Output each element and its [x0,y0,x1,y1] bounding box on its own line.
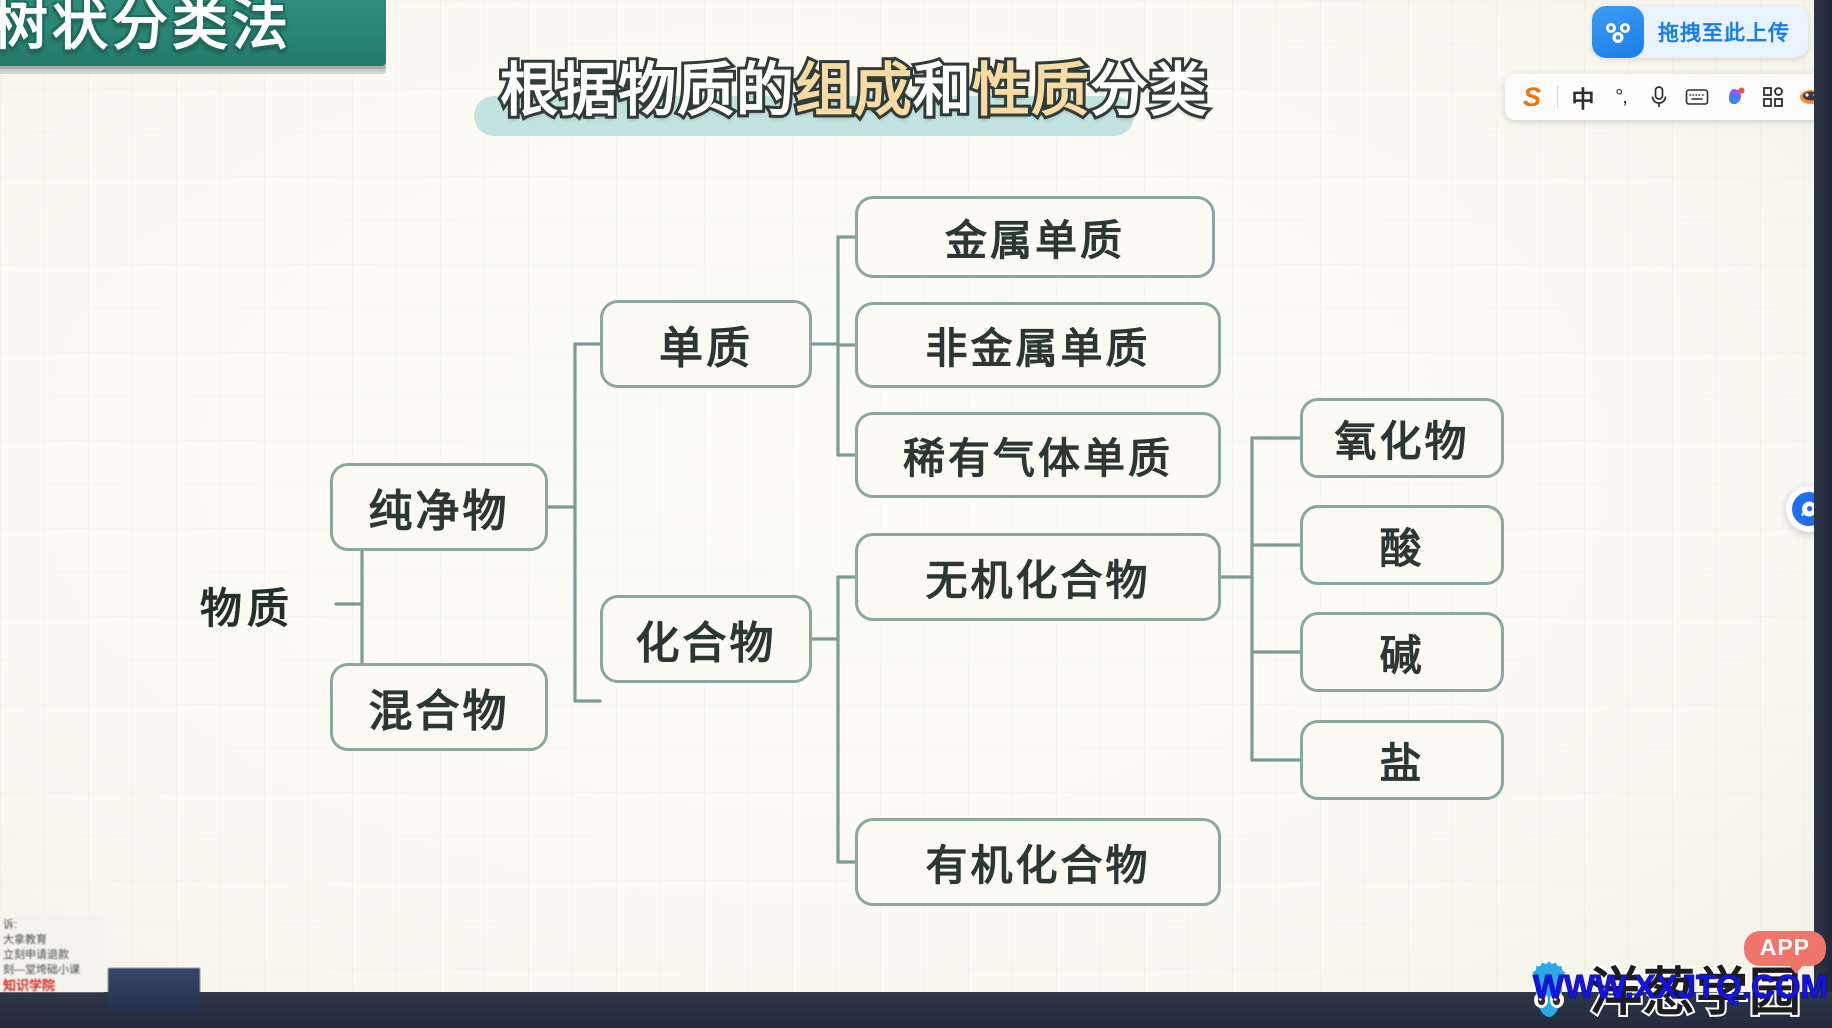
notice-line-1: 诉: [3,918,101,933]
screen-root: 物质 纯净物 混合物 单质 化合物 金属单质 非金属单质 稀有气体单质 无机化合… [0,0,1832,1028]
title-part-4-highlight: 性质 [972,58,1090,123]
app-badge: APP [1744,931,1826,966]
tree-node-pure[interactable]: 纯净物 [330,463,548,551]
background-notice-panel: 诉: 大拿教育 立刻申请退款 刻—堂垮础小课 知识学院 果课的知识学 [0,916,104,992]
page-title: 根据物质的组成和性质分类 [500,56,1140,126]
tree-node-base[interactable]: 碱 [1300,612,1504,692]
site-url-watermark: WWW.XXJTQ.COM [1533,968,1828,1006]
tree-node-element[interactable]: 单质 [600,300,812,388]
lesson-banner: 树状分类法 [0,0,386,66]
classification-tree-diagram: 物质 纯净物 混合物 单质 化合物 金属单质 非金属单质 稀有气体单质 无机化合… [0,0,1832,1028]
right-edge-strip [1814,0,1832,1028]
toolbox-grid-icon[interactable] [1756,78,1790,116]
notice-line-2: 大拿教育 [3,933,101,948]
sogou-ime-toolbar[interactable]: S 中 °, [1505,74,1832,120]
voice-input-icon[interactable] [1642,78,1676,116]
title-part-5: 分类 [1090,58,1208,123]
title-part-1: 根据物质的 [500,58,795,123]
tree-node-compound[interactable]: 化合物 [600,595,812,683]
tree-node-oxide[interactable]: 氧化物 [1300,398,1504,478]
background-video-thumbnail [108,968,200,1012]
lesson-banner-label: 树状分类法 [0,0,292,62]
tree-node-salt[interactable]: 盐 [1300,720,1504,800]
soft-keyboard-icon[interactable] [1680,78,1714,116]
punctuation-toggle[interactable]: °, [1604,78,1638,116]
notice-line-3: 立刻申请退款 [3,948,101,963]
notice-line-4: 刻—堂垮础小课 [3,963,101,978]
banner-shadow-bar [0,66,386,74]
tree-node-noble-gas-element[interactable]: 稀有气体单质 [855,412,1221,498]
notice-red-line: 知识学院 [3,978,101,992]
sogou-logo-icon[interactable]: S [1515,78,1549,116]
tree-node-nonmetal-element[interactable]: 非金属单质 [855,302,1221,388]
baidu-netdisk-icon [1592,6,1644,58]
title-part-3: 和 [913,58,972,123]
input-mode-toggle[interactable]: 中 [1566,78,1600,116]
drag-upload-label: 拖拽至此上传 [1658,17,1790,47]
tree-node-organic-compound[interactable]: 有机化合物 [855,818,1221,906]
ime-divider [1557,86,1558,108]
tree-node-metal-element[interactable]: 金属单质 [855,196,1215,278]
tree-node-acid[interactable]: 酸 [1300,505,1504,585]
tree-node-root[interactable]: 物质 [200,575,294,636]
tree-node-mixture[interactable]: 混合物 [330,663,548,751]
skin-icon[interactable] [1718,78,1752,116]
title-part-2-highlight: 组成 [795,58,913,123]
tree-node-inorganic-compound[interactable]: 无机化合物 [855,533,1221,621]
drag-upload-button[interactable]: 拖拽至此上传 [1592,6,1808,58]
